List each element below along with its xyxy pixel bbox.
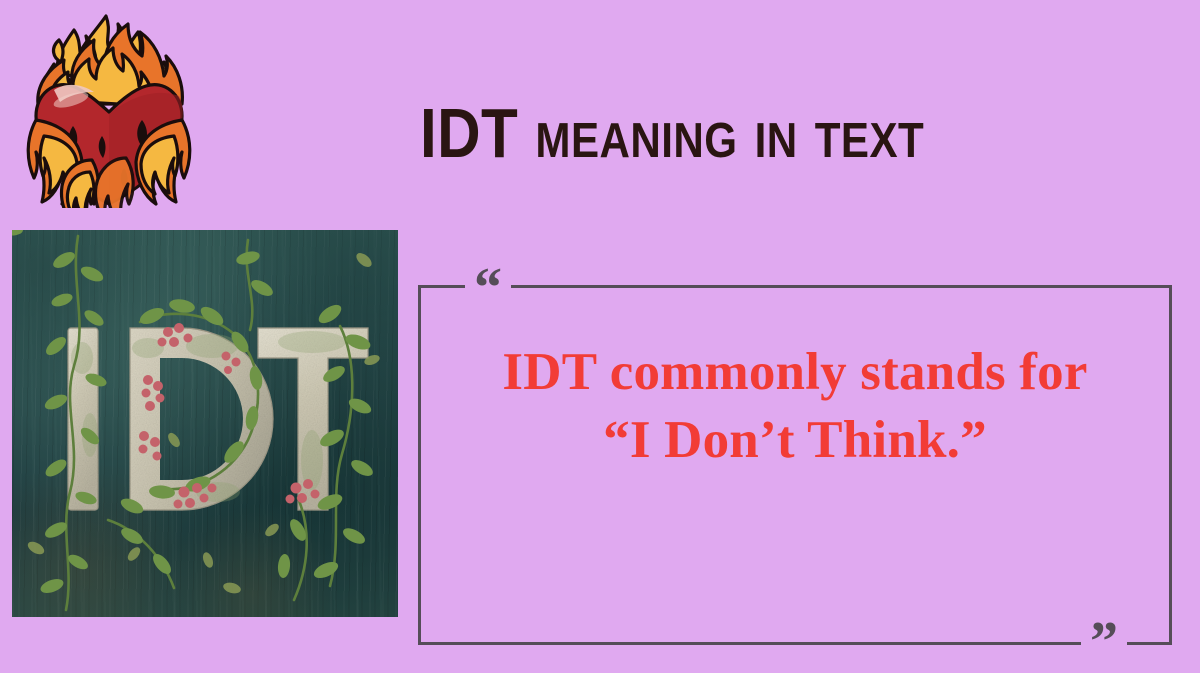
quote-box: “ IDT commonly stands for “I Don’t Think… — [418, 285, 1172, 645]
close-quote-icon: ” — [1081, 617, 1127, 667]
page-title-rest: Meaning in Text — [535, 94, 924, 172]
quote-line-1: IDT commonly stands for — [502, 343, 1087, 401]
quote-text: IDT commonly stands for “I Don’t Think.” — [421, 338, 1169, 474]
idt-stone-letters-photo — [12, 230, 398, 617]
page-title: IDT Meaning in Text — [420, 95, 1022, 171]
page-title-acronym: IDT — [420, 94, 518, 172]
quote-line-2: “I Don’t Think.” — [447, 406, 1143, 474]
flaming-heart-logo — [14, 8, 204, 208]
poster-canvas: IDT Meaning in Text — [0, 0, 1200, 670]
open-quote-icon: “ — [465, 263, 511, 313]
